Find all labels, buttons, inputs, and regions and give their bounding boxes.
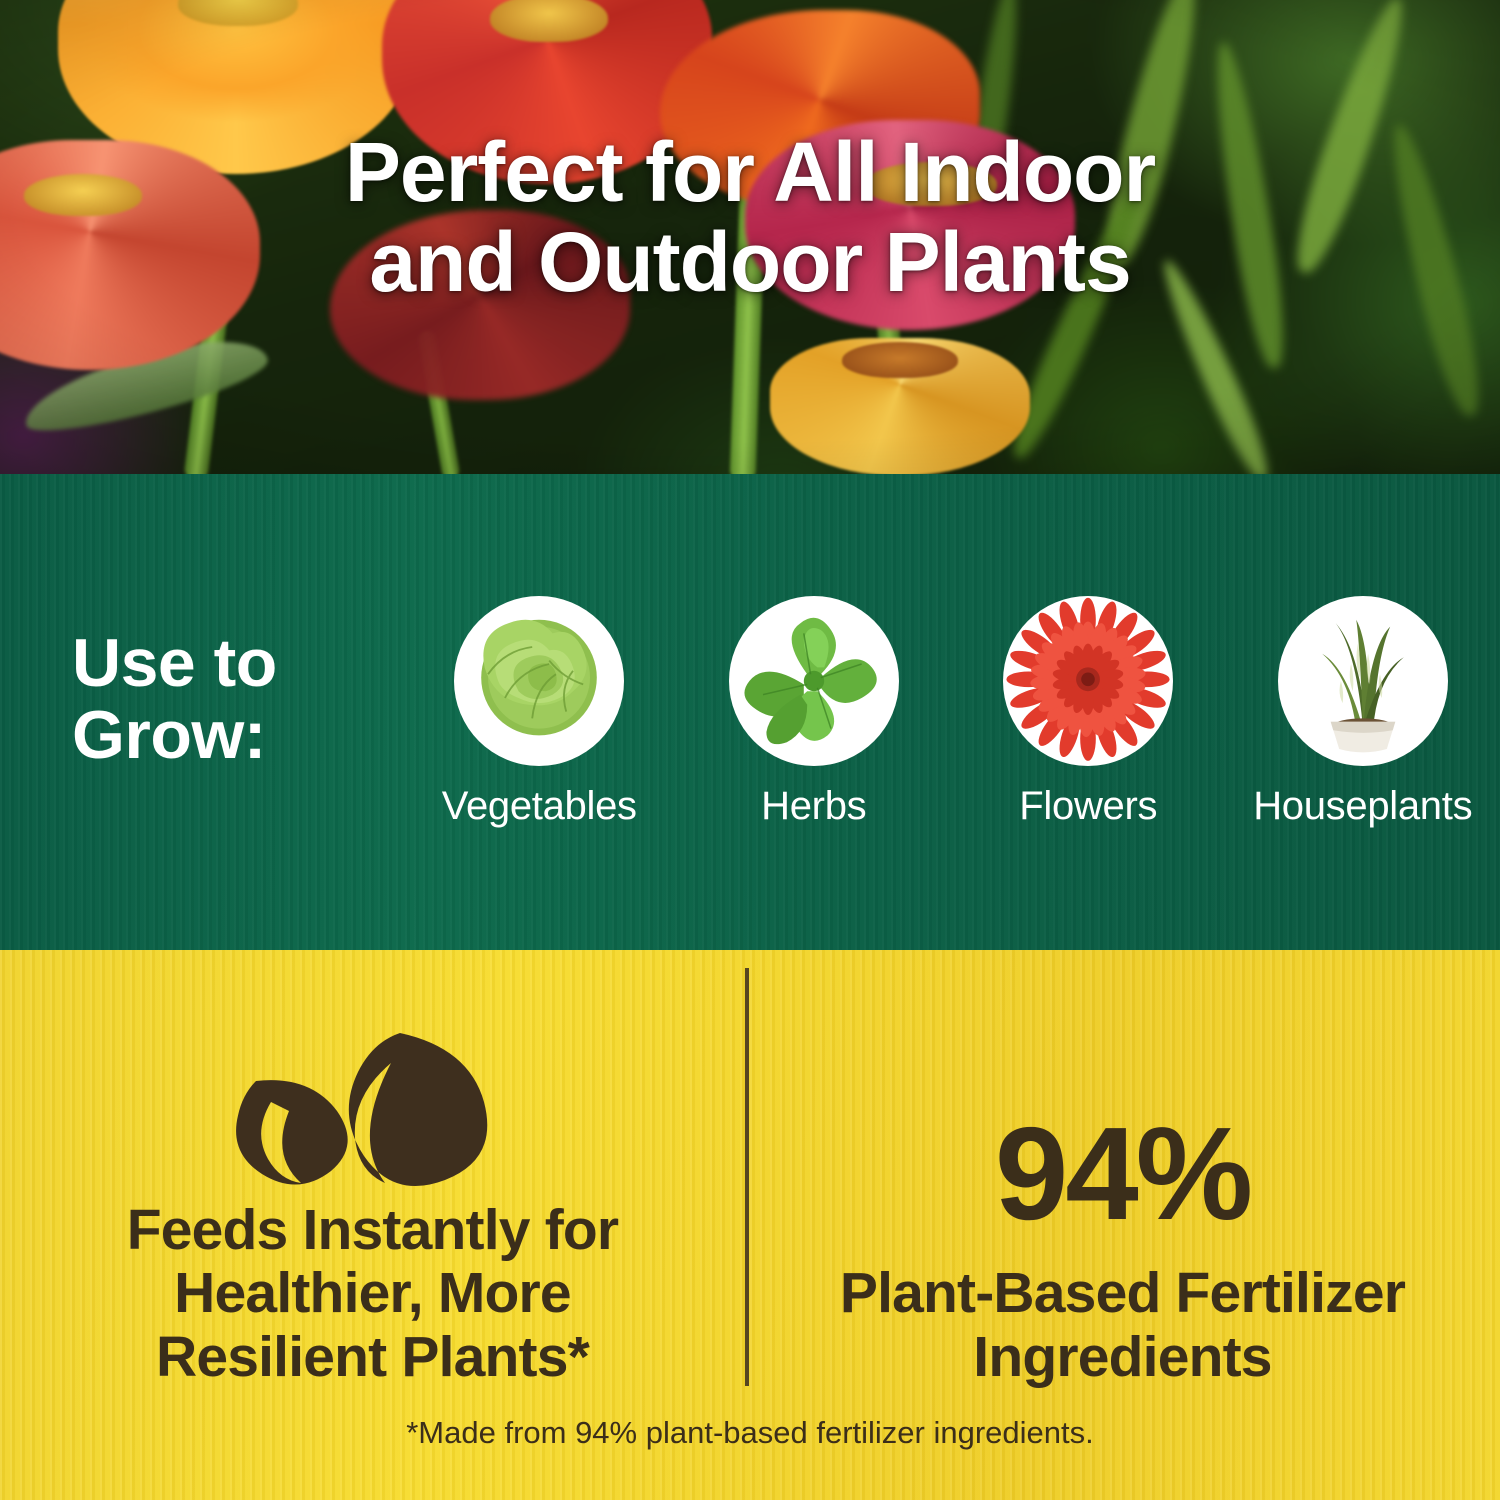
page-title: Perfect for All Indoor and Outdoor Plant…: [0, 128, 1500, 308]
category-disc: [729, 596, 899, 766]
benefit-right-claim: Plant-Based Fertilizer Ingredients: [804, 1262, 1441, 1390]
headline-line-2: and Outdoor Plants: [90, 218, 1410, 308]
hero-photo-section: Perfect for All Indoor and Outdoor Plant…: [0, 0, 1500, 474]
two-leaves-icon: [223, 1024, 523, 1189]
claim-line-2: Ingredients: [840, 1326, 1405, 1390]
basil-icon: [729, 596, 899, 766]
category-flowers: Flowers: [951, 596, 1226, 829]
claim-line-1: Plant-Based Fertilizer: [840, 1262, 1405, 1326]
heading-line-1: Use to: [72, 627, 402, 699]
use-to-grow-heading: Use to Grow:: [72, 627, 402, 771]
category-label: Flowers: [1019, 784, 1157, 829]
snake-plant-icon: [1278, 596, 1448, 766]
heading-line-2: Grow:: [72, 699, 402, 771]
benefit-right: 94% Plant-Based Fertilizer Ingredients: [745, 950, 1500, 1390]
benefit-left-claim: Feeds Instantly for Healthier, More Resi…: [91, 1199, 655, 1390]
use-to-grow-section: Use to Grow:: [0, 474, 1500, 950]
headline-line-1: Perfect for All Indoor: [90, 128, 1410, 218]
category-list: Vegetables: [402, 596, 1500, 829]
benefit-left: Feeds Instantly for Healthier, More Resi…: [0, 950, 745, 1390]
chrysanthemum-icon: [1003, 596, 1173, 766]
percent-value: 94%: [995, 1108, 1250, 1240]
claim-line-2: Healthier, More: [127, 1262, 619, 1326]
claim-line-1: Feeds Instantly for: [127, 1199, 619, 1263]
category-vegetables: Vegetables: [402, 596, 677, 829]
infographic-page: Perfect for All Indoor and Outdoor Plant…: [0, 0, 1500, 1500]
category-label: Vegetables: [442, 784, 637, 829]
category-disc: [454, 596, 624, 766]
category-houseplants: Houseplants: [1226, 596, 1500, 829]
category-label: Herbs: [761, 784, 866, 829]
lettuce-icon: [454, 596, 624, 766]
category-herbs: Herbs: [677, 596, 952, 829]
category-disc: [1278, 596, 1448, 766]
claim-line-3: Resilient Plants*: [127, 1326, 619, 1390]
category-disc: [1003, 596, 1173, 766]
footnote: *Made from 94% plant-based fertilizer in…: [0, 1415, 1500, 1451]
category-label: Houseplants: [1253, 784, 1472, 829]
